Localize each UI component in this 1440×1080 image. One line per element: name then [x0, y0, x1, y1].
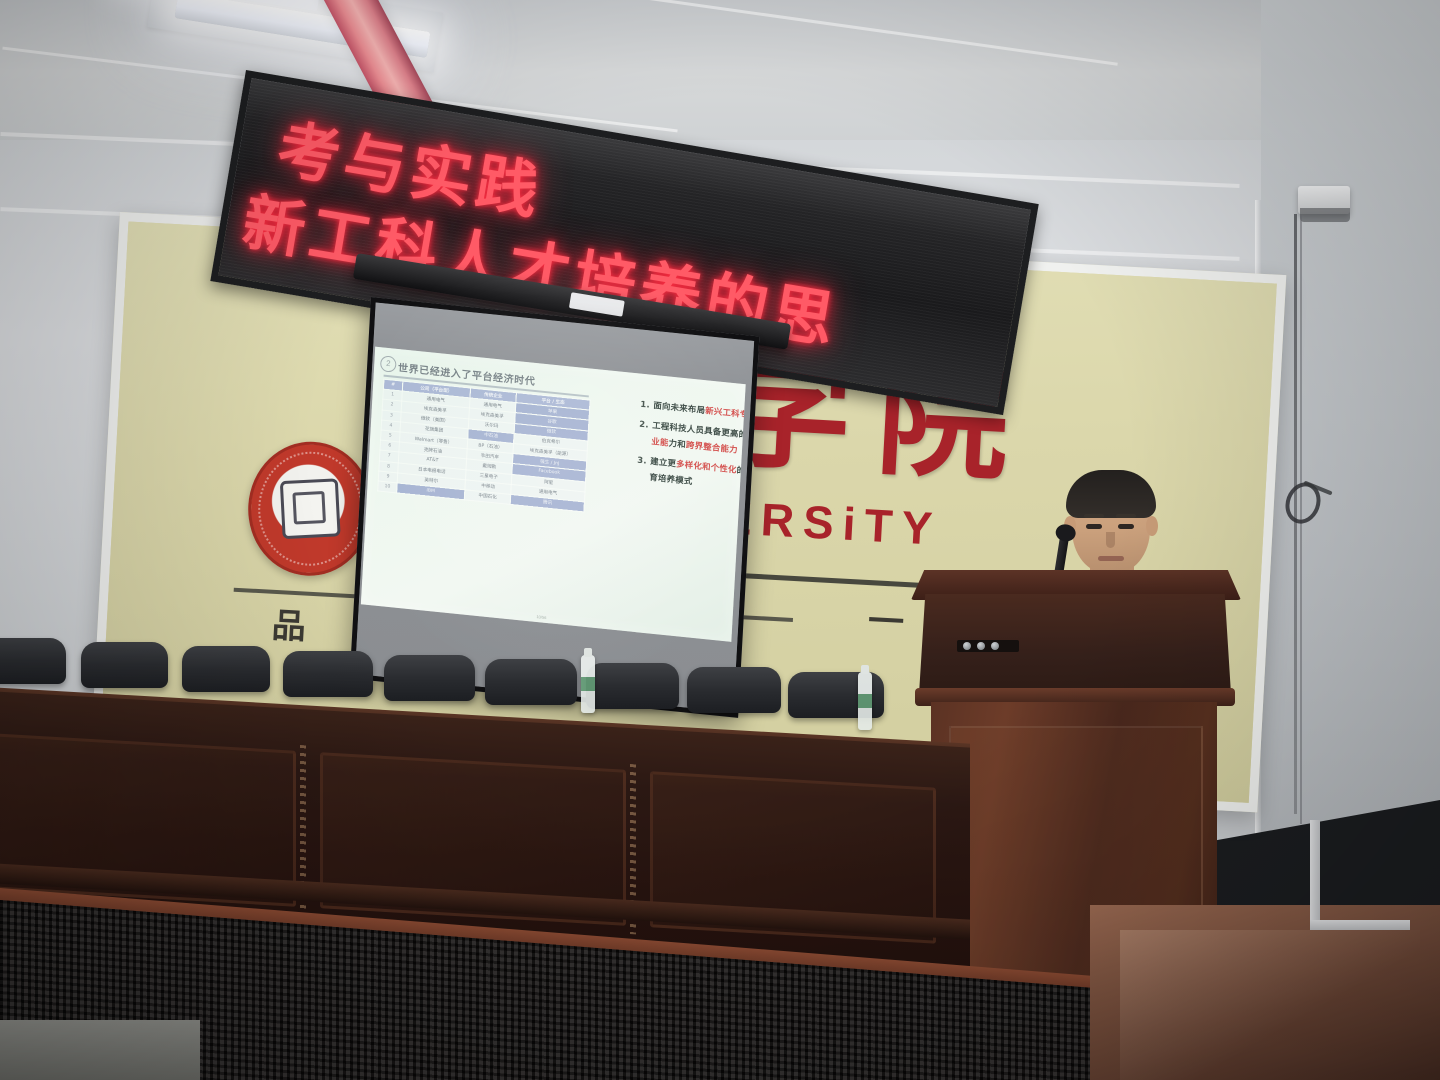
- conference-chair: [586, 663, 679, 709]
- aisle-floor: [0, 1020, 200, 1080]
- presenter-eyebrow-right: [1116, 514, 1136, 518]
- control-knob-1[interactable]: [963, 642, 971, 650]
- presenter-mouth: [1098, 556, 1124, 561]
- slide-bullet-text: 面向未来布局: [653, 400, 705, 415]
- slide-bullet-item: 3.建立更多样化和个性化的工程教育培养模式: [636, 452, 746, 499]
- slide-bullet-number: 1.: [640, 396, 650, 413]
- slide-number-badge-icon: 2: [380, 355, 397, 373]
- water-bottle: [858, 672, 872, 730]
- roller-pull-tab[interactable]: [569, 292, 625, 317]
- lectern-front-face: [919, 594, 1231, 694]
- slide-bullet-text: 建立更: [650, 456, 676, 469]
- presenter-eye-left: [1086, 524, 1102, 529]
- floor-cable-conduit: [1310, 920, 1410, 930]
- water-bottle: [581, 655, 595, 713]
- presenter-eyebrow-left: [1084, 514, 1104, 518]
- slide-bullet-highlight: 多样化和个性化: [676, 458, 737, 474]
- conference-chair: [0, 638, 66, 684]
- slide-bullet-number: 2.: [639, 416, 649, 433]
- right-wall: [1261, 0, 1440, 930]
- slide-bullet-highlight: 新兴工科专业: [705, 406, 746, 421]
- slide-table-cell: 10: [378, 481, 397, 493]
- conference-chair: [182, 646, 270, 692]
- slide-bullet-highlight: 跨界整合能力: [686, 440, 738, 455]
- conference-chair: [485, 659, 577, 705]
- presenter-ear-right: [1146, 516, 1158, 536]
- slide-bullet-number: 3.: [637, 452, 647, 469]
- slide-bullet-text: 力和: [668, 438, 686, 450]
- speaker-bracket: [1300, 208, 1350, 222]
- emblem-core-glyph: [280, 478, 341, 539]
- lectern-control-panel[interactable]: [957, 640, 1019, 652]
- slide-data-table: #公司（平台型）传统企业平台 / 生态1通用电气通用电气苹果2埃克森美孚埃克森美…: [377, 379, 590, 513]
- presenter-nose: [1106, 532, 1115, 548]
- control-knob-3[interactable]: [991, 642, 999, 650]
- conference-chair: [283, 651, 373, 697]
- lecture-hall-photo: 品 学院 ERSiTY 一 考与实践 新工科人才培养的思 幻灯片放映 视图 开始…: [0, 0, 1440, 1080]
- presenter-eye-right: [1118, 524, 1134, 529]
- slide-bullet-list: 1.面向未来布局新兴工科专业2.工程科技人员具备更高的创新创业能力和跨界整合能力…: [596, 392, 746, 501]
- conference-chair: [81, 642, 168, 688]
- wall-cable-conduit: [1310, 820, 1320, 930]
- slide-footer-note: 10/56: [536, 614, 546, 620]
- floor-reflection: [1120, 930, 1420, 1080]
- conference-chair: [384, 655, 475, 701]
- presenter-hair: [1066, 470, 1156, 518]
- ceiling-seam: [622, 0, 1118, 66]
- control-knob-2[interactable]: [977, 642, 985, 650]
- conference-chair: [687, 667, 781, 713]
- projected-slide: 幻灯片放映 视图 开始 插入 设计 切换动画 2 世界已经进入了平台经济时代 #…: [361, 347, 746, 642]
